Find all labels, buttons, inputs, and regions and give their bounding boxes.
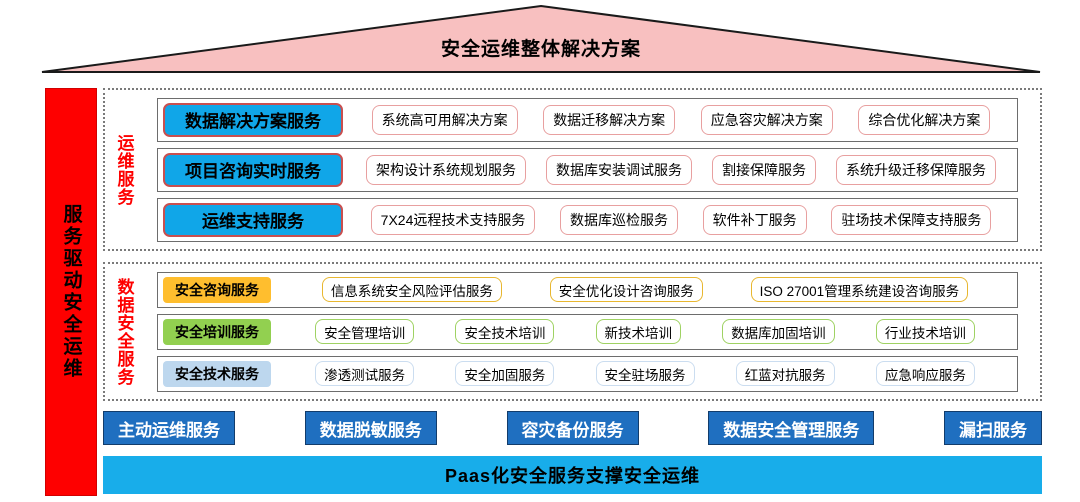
service-button[interactable]: 容灾备份服务 xyxy=(507,411,639,445)
service-pill[interactable]: 7X24远程技术支持服务 xyxy=(371,205,536,235)
service-button[interactable]: 数据脱敏服务 xyxy=(305,411,437,445)
service-pill[interactable]: 信息系统安全风险评估服务 xyxy=(322,277,502,302)
service-pill[interactable]: 渗透测试服务 xyxy=(315,361,414,386)
service-pill[interactable]: 割接保障服务 xyxy=(712,155,816,185)
service-pill[interactable]: 行业技术培训 xyxy=(876,319,975,344)
service-pill[interactable]: 安全加固服务 xyxy=(455,361,554,386)
group-ops-rows: 数据解决方案服务系统高可用解决方案数据迁移解决方案应急容灾解决方案综合优化解决方… xyxy=(155,90,1040,249)
service-pill[interactable]: 安全驻场服务 xyxy=(596,361,695,386)
category-pill[interactable]: 数据解决方案服务 xyxy=(163,103,343,137)
diagram-canvas: 安全运维整体解决方案 服务驱动安全运维 运维服务 数据解决方案服务系统高可用解决… xyxy=(0,0,1080,502)
category-pill[interactable]: 项目咨询实时服务 xyxy=(163,153,343,187)
category-pill[interactable]: 安全技术服务 xyxy=(163,361,271,387)
page-title: 安全运维整体解决方案 xyxy=(40,34,1042,61)
footer-bar: Paas化安全服务支撑安全运维 xyxy=(103,456,1042,494)
service-pill[interactable]: 综合优化解决方案 xyxy=(858,105,990,135)
spine-banner: 服务驱动安全运维 xyxy=(45,88,97,496)
service-pill[interactable]: 应急容灾解决方案 xyxy=(701,105,833,135)
service-pill[interactable]: 数据库加固培训 xyxy=(722,319,835,344)
spine-label: 服务驱动安全运维 xyxy=(62,204,81,380)
group-security-label: 数据安全服务 xyxy=(111,264,137,399)
service-pill[interactable]: 数据库安装调试服务 xyxy=(546,155,692,185)
service-button[interactable]: 主动运维服务 xyxy=(103,411,235,445)
service-pill[interactable]: 架构设计系统规划服务 xyxy=(366,155,526,185)
footer-label: Paas化安全服务支撑安全运维 xyxy=(445,462,700,488)
row-strip: 安全技术服务渗透测试服务安全加固服务安全驻场服务红蓝对抗服务应急响应服务 xyxy=(157,356,1018,392)
service-pill[interactable]: 系统高可用解决方案 xyxy=(372,105,518,135)
category-pill[interactable]: 安全咨询服务 xyxy=(163,277,271,303)
group-ops-label: 运维服务 xyxy=(111,90,137,249)
group-security-rows: 安全咨询服务信息系统安全风险评估服务安全优化设计咨询服务ISO 27001管理系… xyxy=(155,264,1040,399)
service-pill[interactable]: 驻场技术保障支持服务 xyxy=(831,205,991,235)
row-strip: 数据解决方案服务系统高可用解决方案数据迁移解决方案应急容灾解决方案综合优化解决方… xyxy=(157,98,1018,142)
service-pill[interactable]: 安全管理培训 xyxy=(315,319,414,344)
group-ops: 运维服务 数据解决方案服务系统高可用解决方案数据迁移解决方案应急容灾解决方案综合… xyxy=(103,88,1042,251)
service-pill[interactable]: 软件补丁服务 xyxy=(703,205,807,235)
service-pill[interactable]: 红蓝对抗服务 xyxy=(736,361,835,386)
row-strip: 安全咨询服务信息系统安全风险评估服务安全优化设计咨询服务ISO 27001管理系… xyxy=(157,272,1018,308)
service-pill[interactable]: 安全技术培训 xyxy=(455,319,554,344)
category-pill[interactable]: 运维支持服务 xyxy=(163,203,343,237)
service-pill[interactable]: 新技术培训 xyxy=(596,319,682,344)
service-button[interactable]: 数据安全管理服务 xyxy=(708,411,874,445)
service-button-row: 主动运维服务数据脱敏服务容灾备份服务数据安全管理服务漏扫服务 xyxy=(103,410,1042,446)
service-pill[interactable]: 应急响应服务 xyxy=(876,361,975,386)
service-pill[interactable]: ISO 27001管理系统建设咨询服务 xyxy=(751,277,969,302)
row-strip: 项目咨询实时服务架构设计系统规划服务数据库安装调试服务割接保障服务系统升级迁移保… xyxy=(157,148,1018,192)
row-strip: 运维支持服务7X24远程技术支持服务数据库巡检服务软件补丁服务驻场技术保障支持服… xyxy=(157,198,1018,242)
category-pill[interactable]: 安全培训服务 xyxy=(163,319,271,345)
row-strip: 安全培训服务安全管理培训安全技术培训新技术培训数据库加固培训行业技术培训 xyxy=(157,314,1018,350)
service-pill[interactable]: 安全优化设计咨询服务 xyxy=(550,277,703,302)
service-pill[interactable]: 数据迁移解决方案 xyxy=(543,105,675,135)
roof-triangle: 安全运维整体解决方案 xyxy=(40,4,1042,74)
service-pill[interactable]: 数据库巡检服务 xyxy=(560,205,678,235)
group-security: 数据安全服务 安全咨询服务信息系统安全风险评估服务安全优化设计咨询服务ISO 2… xyxy=(103,262,1042,401)
service-pill[interactable]: 系统升级迁移保障服务 xyxy=(836,155,996,185)
service-button[interactable]: 漏扫服务 xyxy=(944,411,1042,445)
